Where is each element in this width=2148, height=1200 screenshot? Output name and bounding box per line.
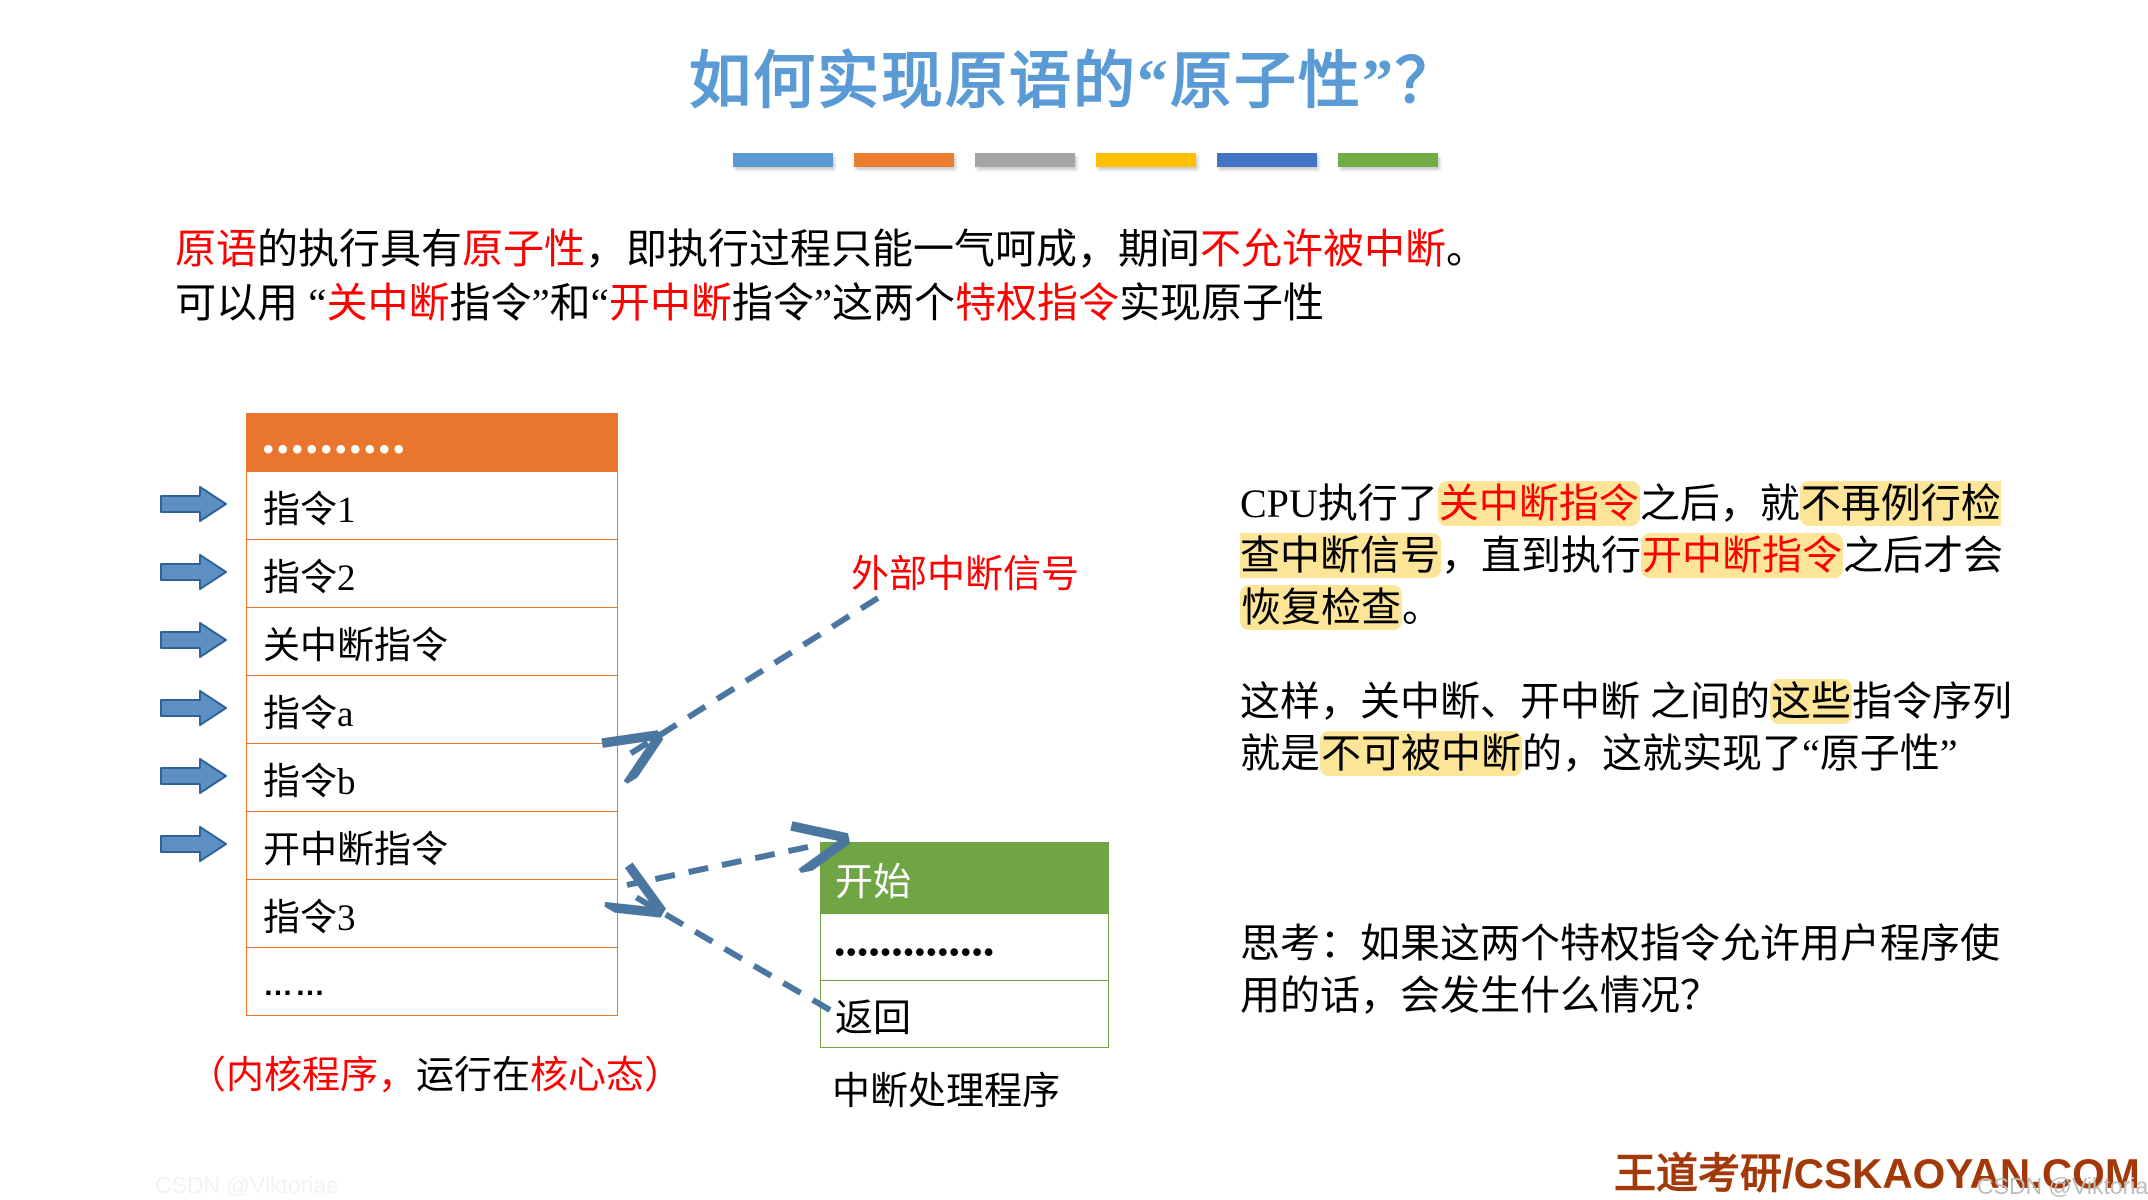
text-run: 特权指令: [955, 280, 1119, 326]
kernel-table-row: 开中断指令: [247, 811, 617, 879]
handler-table-row: ••••••••••••••: [821, 913, 1108, 980]
handler-table-header: 开始: [821, 843, 1108, 913]
explanation-block-3: 思考：如果这两个特权指令允许用户程序使用的话，会发生什么情况？: [1240, 918, 2030, 1022]
explanation-run: 这样，关中断、开中断 之间的: [1240, 679, 1770, 724]
kernel-program-table: •••••••••• 指令1指令2关中断指令指令a指令b开中断指令指令3……: [246, 413, 618, 1016]
watermark-right: CSDN @Viktoriae: [1977, 1173, 2148, 1200]
text-run: 开中断: [609, 280, 732, 326]
kernel-table-caption: （内核程序，运行在核心态）: [188, 1044, 682, 1099]
header-dots-icon: ••••••••••: [263, 435, 408, 465]
interrupt-handler-caption: 中断处理程序: [832, 1060, 1060, 1115]
text-run: ）: [644, 1055, 682, 1097]
handler-table-row: 返回: [821, 980, 1108, 1047]
dashed-arrow-return-to-kernel: [627, 892, 830, 1010]
text-run: 。: [1446, 226, 1487, 272]
dashed-arrow-to-handler: [627, 847, 808, 885]
lead-line-1: 原语的执行具有原子性，即执行过程只能一气呵成，期间不允许被中断。: [175, 222, 1575, 276]
kernel-row-label: 指令b: [263, 751, 356, 805]
explanation-run: CPU执行了: [1240, 481, 1438, 526]
explanation-run: 思考：如果这两个特权指令允许用户程序使用的话，会发生什么情况？: [1240, 921, 2000, 1018]
kernel-row-label: ……: [263, 969, 327, 1003]
handler-row-label: ••••••••••••••: [835, 937, 995, 968]
right-arrow-icon: [160, 553, 228, 591]
explanation-run: 不可被中断: [1320, 731, 1522, 776]
explanation-run: 开中断指令: [1641, 533, 1843, 578]
text-run: 不允许被中断: [1200, 226, 1446, 272]
explanation-run: ，直到执行: [1441, 533, 1641, 578]
kernel-table-row: ……: [247, 947, 617, 1015]
accent-bar-strip: [733, 153, 1438, 167]
handler-row-label: 返回: [835, 987, 911, 1042]
text-run: 的执行具有: [257, 226, 462, 272]
bar-green: [1338, 153, 1438, 167]
kernel-row-label: 指令3: [263, 887, 356, 941]
text-run: 核心态: [530, 1055, 644, 1097]
text-run: ，即执行过程只能一气呵成，期间: [585, 226, 1200, 272]
explanation-run: 的，这就实现了“原子性”: [1522, 731, 1958, 776]
right-arrow-icon: [160, 825, 228, 863]
bar-navy: [1217, 153, 1317, 167]
bar-yellow: [1096, 153, 1196, 167]
explanation-block-1: CPU执行了关中断指令之后，就不再例行检查中断信号，直到执行开中断指令之后才会恢…: [1240, 478, 2030, 634]
right-arrow-icon: [160, 485, 228, 523]
explanation-block-2: 这样，关中断、开中断 之间的这些指令序列就是不可被中断的，这就实现了“原子性”: [1240, 676, 2030, 780]
kernel-table-row: 关中断指令: [247, 607, 617, 675]
kernel-row-label: 关中断指令: [263, 615, 448, 669]
dashed-arrow-external-signal: [625, 598, 878, 757]
kernel-row-label: 开中断指令: [263, 819, 448, 873]
text-run: 内核程序，: [226, 1055, 416, 1097]
bar-orange: [854, 153, 954, 167]
text-run: 可以用 “: [175, 280, 326, 326]
explanation-run: 这些: [1770, 679, 1852, 724]
text-run: 指令”这两个: [732, 280, 955, 326]
explanation-run: 关中断指令: [1438, 481, 1640, 526]
kernel-table-row: 指令a: [247, 675, 617, 743]
text-run: 原子性: [462, 226, 585, 272]
kernel-row-label: 指令1: [263, 479, 356, 533]
kernel-table-row: 指令2: [247, 539, 617, 607]
kernel-row-label: 指令2: [263, 547, 356, 601]
text-run: （: [188, 1055, 226, 1097]
lead-paragraph: 原语的执行具有原子性，即执行过程只能一气呵成，期间不允许被中断。 可以用 “关中…: [175, 222, 1575, 330]
text-run: 关中断: [326, 280, 449, 326]
explanation-run: 之后，就: [1640, 481, 1800, 526]
text-run: 指令”和“: [449, 280, 608, 326]
explanation-run: 恢复检查: [1240, 585, 1402, 630]
external-interrupt-signal-label: 外部中断信号: [851, 543, 1079, 598]
lead-line-2: 可以用 “关中断指令”和“开中断指令”这两个特权指令实现原子性: [175, 276, 1575, 330]
kernel-table-row: 指令1: [247, 471, 617, 539]
page-title: 如何实现原语的“原子性”？: [0, 30, 2148, 120]
explanation-run: 之后才会: [1843, 533, 2003, 578]
right-arrow-icon: [160, 757, 228, 795]
text-run: 实现原子性: [1119, 280, 1324, 326]
watermark-left: CSDN @Viktoriae: [155, 1172, 339, 1199]
kernel-table-header: ••••••••••: [247, 414, 617, 471]
text-run: 运行在: [416, 1055, 530, 1097]
right-arrow-icon: [160, 621, 228, 659]
right-arrow-icon: [160, 689, 228, 727]
slide-canvas: 如何实现原语的“原子性”？ 原语的执行具有原子性，即执行过程只能一气呵成，期间不…: [0, 0, 2148, 1200]
interrupt-handler-table: 开始 ••••••••••••••返回: [820, 842, 1109, 1048]
text-run: 原语: [175, 226, 257, 272]
kernel-table-row: 指令b: [247, 743, 617, 811]
kernel-table-row: 指令3: [247, 879, 617, 947]
bar-blue: [733, 153, 833, 167]
kernel-row-label: 指令a: [263, 683, 353, 737]
bar-gray: [975, 153, 1075, 167]
explanation-run: 。: [1402, 585, 1442, 630]
